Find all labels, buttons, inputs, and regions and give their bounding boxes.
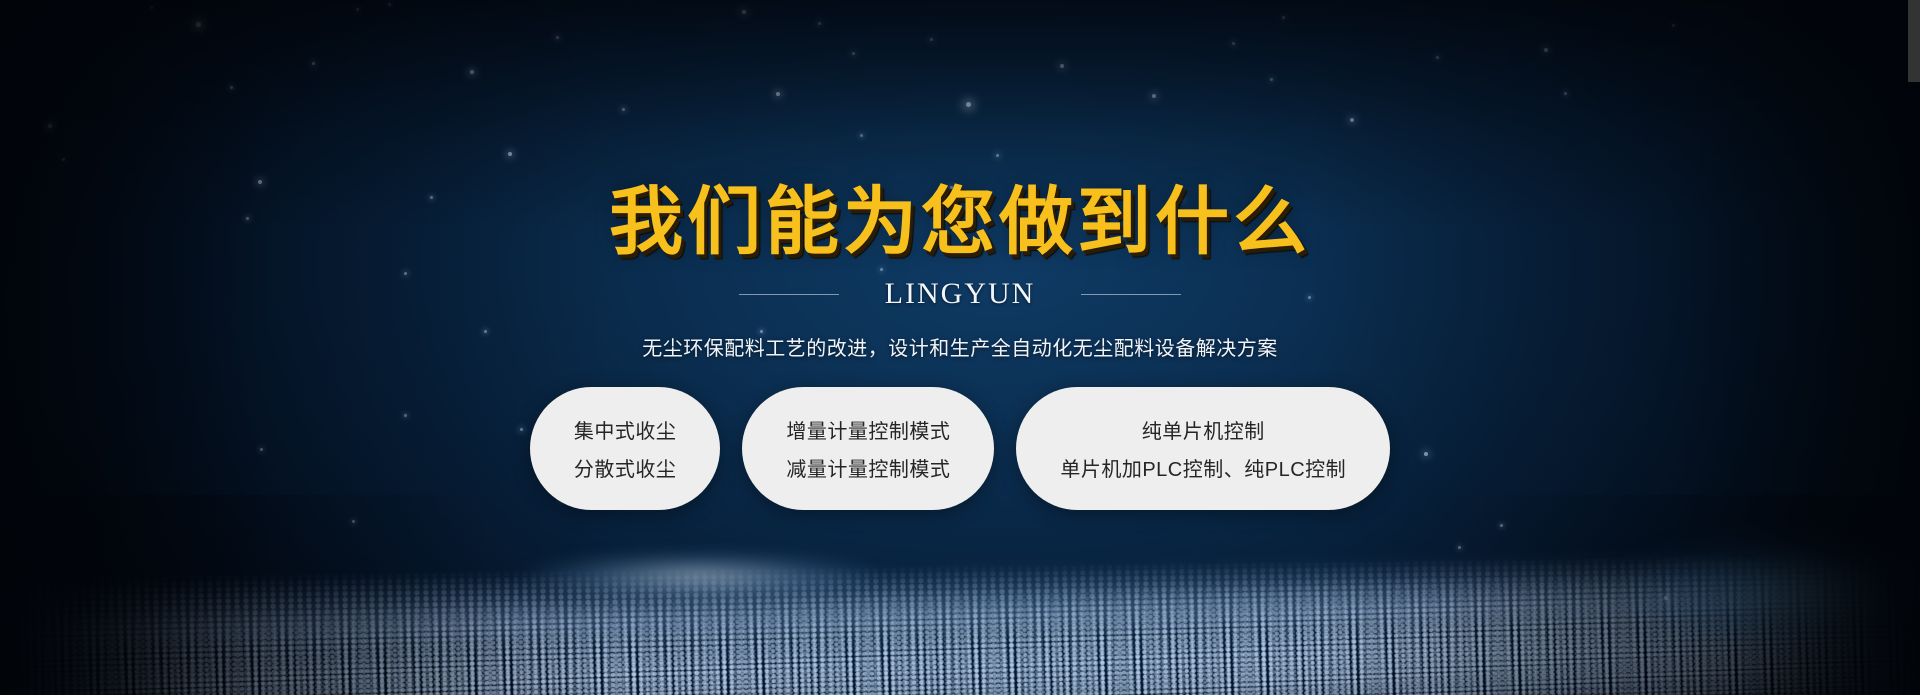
feature-card-dust-collection[interactable]: 集中式收尘 分散式收尘 xyxy=(530,387,721,510)
hero-banner: 我们能为您做到什么 LINGYUN 无尘环保配料工艺的改进，设计和生产全自动化无… xyxy=(0,0,1920,695)
feature-card-control-system[interactable]: 纯单片机控制 单片机加PLC控制、纯PLC控制 xyxy=(1016,387,1390,510)
feature-card-weighing-mode[interactable]: 增量计量控制模式 减量计量控制模式 xyxy=(742,387,994,510)
feature-card-list: 集中式收尘 分散式收尘 增量计量控制模式 减量计量控制模式 纯单片机控制 单片机… xyxy=(530,387,1390,510)
banner-content: 我们能为您做到什么 LINGYUN 无尘环保配料工艺的改进，设计和生产全自动化无… xyxy=(0,0,1920,695)
page-title: 我们能为您做到什么 xyxy=(609,185,1311,259)
feature-card-line: 分散式收尘 xyxy=(574,453,677,482)
feature-card-line: 单片机加PLC控制、纯PLC控制 xyxy=(1060,453,1346,482)
banner-description: 无尘环保配料工艺的改进，设计和生产全自动化无尘配料设备解决方案 xyxy=(642,332,1278,361)
subtitle-rule-left xyxy=(739,294,839,295)
feature-card-line: 增量计量控制模式 xyxy=(786,415,950,444)
feature-card-line: 集中式收尘 xyxy=(574,415,677,444)
feature-card-line: 减量计量控制模式 xyxy=(786,453,950,482)
brand-subtitle: LINGYUN xyxy=(885,277,1036,311)
feature-card-line: 纯单片机控制 xyxy=(1142,415,1265,444)
subtitle-row: LINGYUN xyxy=(739,277,1182,311)
page-edge-gutter xyxy=(1908,0,1920,82)
subtitle-rule-right xyxy=(1081,294,1181,295)
